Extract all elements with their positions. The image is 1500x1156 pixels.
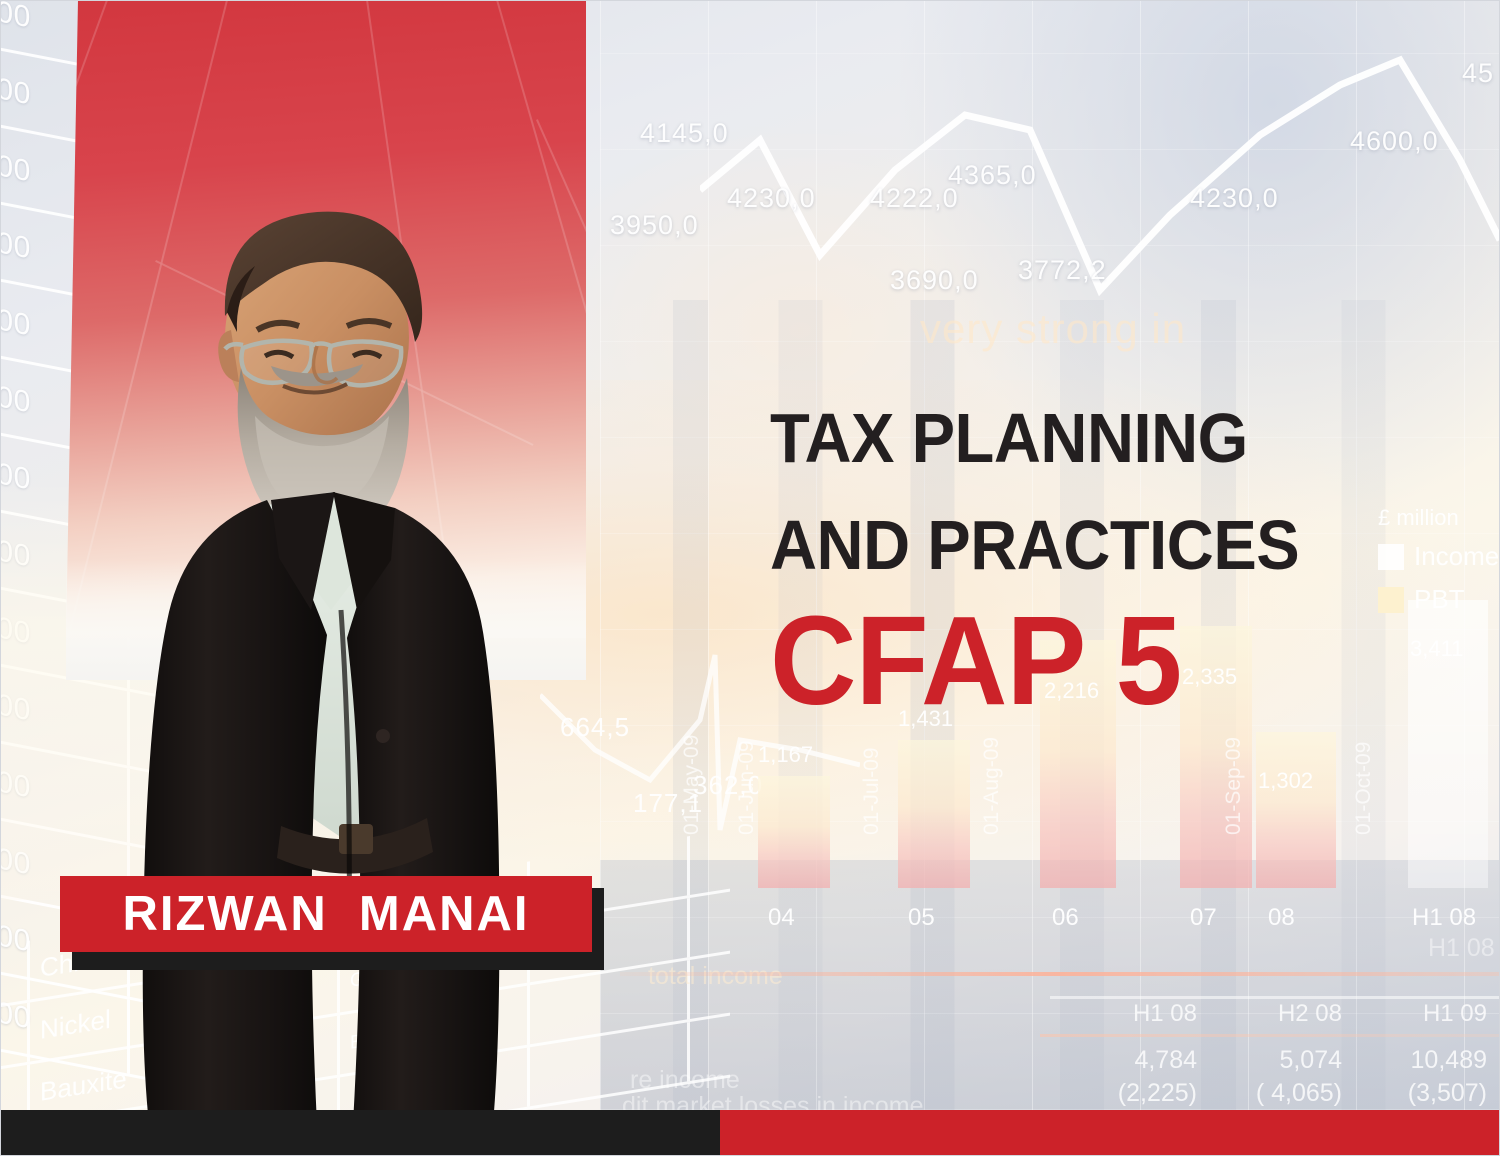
chart-value-label: 664,5 [560,712,630,743]
bottom-bar [0,1110,1500,1156]
rotated-date-label: 01-Sep-09 [1222,737,1246,835]
bar [1256,732,1336,888]
speaker-name-banner: RIZWAN MANAI [60,876,592,952]
rotated-date-label: 01-May-09 [680,735,704,835]
table-cell: (3,507) [1350,1079,1495,1108]
bar-value-label: 1,302 [1258,768,1313,794]
rotated-date-label: 01-Aug-09 [980,737,1004,835]
chart-value-label: 4230,0 [1190,183,1279,214]
speaker-name: RIZWAN MANAI [122,886,529,942]
table-row: 4,784 5,074 10,489 [1060,1046,1500,1075]
table-cell: 10,489 [1350,1046,1495,1075]
ghost-phrase: very strong in [920,305,1186,353]
bar [898,740,970,888]
chart-value-label: 45 [1462,58,1494,89]
column-header: H1 09 [1350,1000,1495,1028]
divider [1050,996,1500,999]
row-letter: B [0,940,30,1009]
table-row: (2,225) ( 4,065) (3,507) [1060,1079,1500,1108]
divider [620,972,1500,976]
bar [758,776,830,888]
chart-value-label: 4222,0 [870,183,959,214]
chart-value-label: 3772,2 [1018,255,1107,286]
ghost-phrase: re income [630,1066,740,1095]
speaker-portrait [95,140,565,1125]
table-header-row: H1 08 H2 08 H1 09 [1060,1000,1500,1028]
column-header: H1 08 [1060,1000,1205,1028]
table-cell: 4,784 [1060,1046,1205,1075]
chart-value-label: 3950,0 [610,210,699,241]
bottom-bar-dark [0,1110,720,1156]
bar-axis-label: H1 08 [1412,904,1476,932]
bottom-bar-red [720,1110,1500,1156]
title-block: TAX PLANNING AND PRACTICES CFAP 5 [770,405,1430,719]
table-cell: 5,074 [1205,1046,1350,1075]
bar-value-label: 1,167 [758,742,813,768]
rotated-date-label: 01-Jun-09 [735,740,759,835]
chart-value-label: 3690,0 [890,265,979,296]
row-letter: A [0,1002,30,1071]
poster-canvas: 339.00 592.00 574.00 369.00 190.00 280.0… [0,0,1500,1156]
bar-axis-label: 04 [768,904,795,932]
ghost-phrase: total income [648,962,783,991]
rotated-date-label: 01-Jul-09 [860,747,884,835]
rotated-date-label: 01-Oct-09 [1352,742,1376,835]
chart-value-label: 4600,0 [1350,126,1439,157]
course-title-line-2: AND PRACTICES [770,512,1384,579]
bar-axis-label: 07 [1190,904,1217,932]
chart-value-label: 4145,0 [640,118,729,149]
bar-axis-label: 08 [1268,904,1295,932]
chart-value-label: 4230,0 [727,183,816,214]
column-header: H2 08 [1205,1000,1350,1028]
table-cell: ( 4,065) [1205,1079,1350,1108]
bar-axis-label: 05 [908,904,935,932]
bar-axis-label: 06 [1052,904,1079,932]
table-cell: (2,225) [1060,1079,1205,1108]
ghost-phrase: H1 08 [1428,934,1495,963]
course-title-line-1: TAX PLANNING [770,405,1384,472]
portrait-figure [95,140,565,1125]
course-code: CFAP 5 [770,603,1397,719]
chart-value-label: 4365,0 [948,160,1037,191]
